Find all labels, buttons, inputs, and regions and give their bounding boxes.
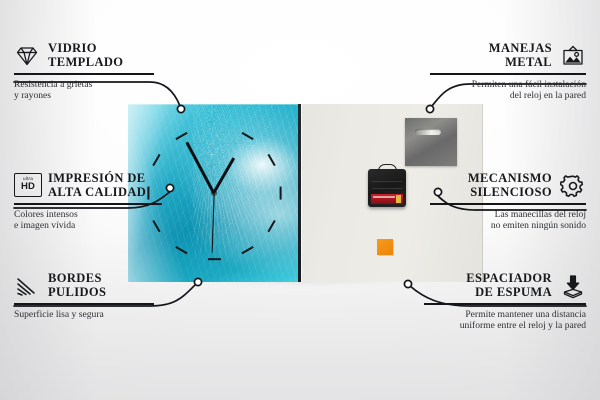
callout-manejas-metal: MANEJAS METAL Permiten una fácil instala…	[430, 42, 586, 101]
clock-tick	[153, 154, 161, 166]
battery-label	[373, 196, 395, 198]
clock-tick	[208, 258, 221, 260]
callout-header: BORDES PULIDOS	[14, 272, 154, 299]
panel-edge	[298, 104, 301, 282]
callout-rule	[14, 203, 162, 205]
foam-spacer-arrow-icon	[560, 273, 586, 299]
clock-tick	[267, 220, 275, 232]
foam-spacer	[377, 239, 393, 255]
callout-header: VIDRIO TEMPLADO	[14, 42, 154, 69]
gear-icon	[560, 173, 586, 199]
wall-frame-hanger-icon	[560, 43, 586, 69]
callout-mecanismo-silencioso: MECANISMO SILENCIOSO Las manecillas del …	[430, 172, 586, 231]
callout-subtitle: Las manecillas del reloj no emiten ningú…	[430, 209, 586, 232]
callout-subtitle: Colores intensos e imagen vívida	[14, 209, 162, 232]
polished-edges-icon	[14, 273, 40, 299]
callout-subtitle: Permite mantener una distancia uniforme …	[424, 309, 586, 332]
second-hand	[211, 193, 214, 253]
callout-rule	[430, 73, 586, 75]
clock-tick	[241, 132, 253, 140]
callout-rule	[14, 303, 154, 305]
callout-title: ESPACIADOR DE ESPUMA	[466, 272, 552, 299]
callout-title: MANEJAS METAL	[489, 42, 552, 69]
clock-tick	[241, 246, 253, 254]
callout-rule	[14, 73, 154, 75]
infographic-canvas: VIDRIO TEMPLADO Resistencia a grietas y …	[0, 0, 600, 400]
mechanism-seam	[372, 181, 402, 182]
ultra-hd-icon: ultra HD	[14, 173, 40, 199]
callout-title: MECANISMO SILENCIOSO	[468, 172, 552, 199]
callout-impresion-alta-calidad: ultra HD IMPRESIÓN DE ALTA CALIDAD Color…	[14, 172, 162, 231]
minute-hand	[185, 141, 215, 194]
callout-header: MANEJAS METAL	[430, 42, 586, 69]
callout-vidrio-templado: VIDRIO TEMPLADO Resistencia a grietas y …	[14, 42, 154, 101]
ultra-hd-main-text: HD	[21, 182, 35, 192]
mechanism-hook	[378, 164, 397, 173]
mechanism-seam	[372, 188, 402, 189]
hanger-slot	[415, 129, 441, 135]
callout-header: ultra HD IMPRESIÓN DE ALTA CALIDAD	[14, 172, 162, 199]
clock-tick	[175, 246, 187, 254]
callout-rule	[424, 303, 586, 305]
callout-subtitle: Permiten una fácil instalación del reloj…	[430, 79, 586, 102]
clock-tick	[279, 186, 281, 199]
hour-hand	[213, 158, 236, 194]
callout-rule	[430, 203, 586, 205]
clock-tick	[267, 154, 275, 166]
callout-subtitle: Superficie lisa y segura	[14, 309, 154, 320]
callout-title: IMPRESIÓN DE ALTA CALIDAD	[48, 172, 146, 199]
callout-header: MECANISMO SILENCIOSO	[430, 172, 586, 199]
callout-espaciador-de-espuma: ESPACIADOR DE ESPUMA Permite mantener un…	[424, 272, 586, 331]
callout-subtitle: Resistencia a grietas y rayones	[14, 79, 154, 102]
metal-hanger-plate	[405, 118, 457, 166]
callout-title: VIDRIO TEMPLADO	[48, 42, 123, 69]
diamond-icon	[14, 43, 40, 69]
callout-bordes-pulidos: BORDES PULIDOS Superficie lisa y segura	[14, 272, 154, 320]
quartz-mechanism-box	[368, 169, 406, 207]
callout-header: ESPACIADOR DE ESPUMA	[424, 272, 586, 299]
aa-battery	[371, 194, 403, 204]
battery-terminal	[396, 195, 401, 203]
callout-title: BORDES PULIDOS	[48, 272, 106, 299]
clock-tick	[175, 132, 187, 140]
